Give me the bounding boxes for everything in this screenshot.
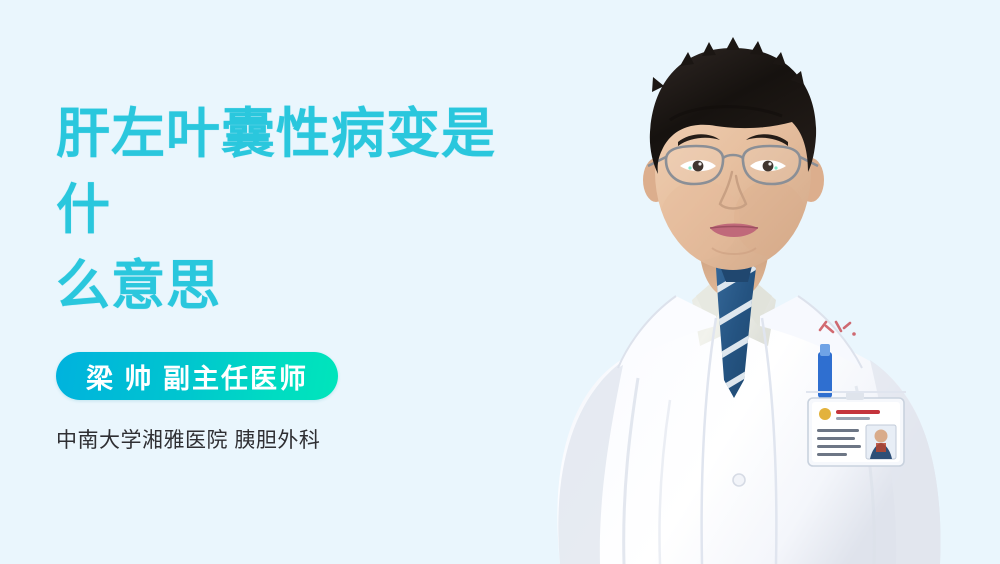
doctor-affiliation: 中南大学湘雅医院 胰胆外科 [56,426,526,456]
id-badge [808,392,904,466]
text-column: 肝左叶囊性病变是什么意思 梁 帅 副主任医师 中南大学湘雅医院 胰胆外科 [56,96,526,456]
doctor-credential-badge: 梁 帅 副主任医师 [56,352,338,400]
pocket-pen [818,344,832,398]
page-title: 肝左叶囊性病变是什么意思 [56,96,526,324]
promo-banner: 肝左叶囊性病变是什么意思 梁 帅 副主任医师 中南大学湘雅医院 胰胆外科 [0,0,1000,564]
title-line-2: 么意思 [56,256,221,316]
doctor-portrait [520,0,1000,564]
title-line-1: 肝左叶囊性病变是什 [56,104,496,240]
